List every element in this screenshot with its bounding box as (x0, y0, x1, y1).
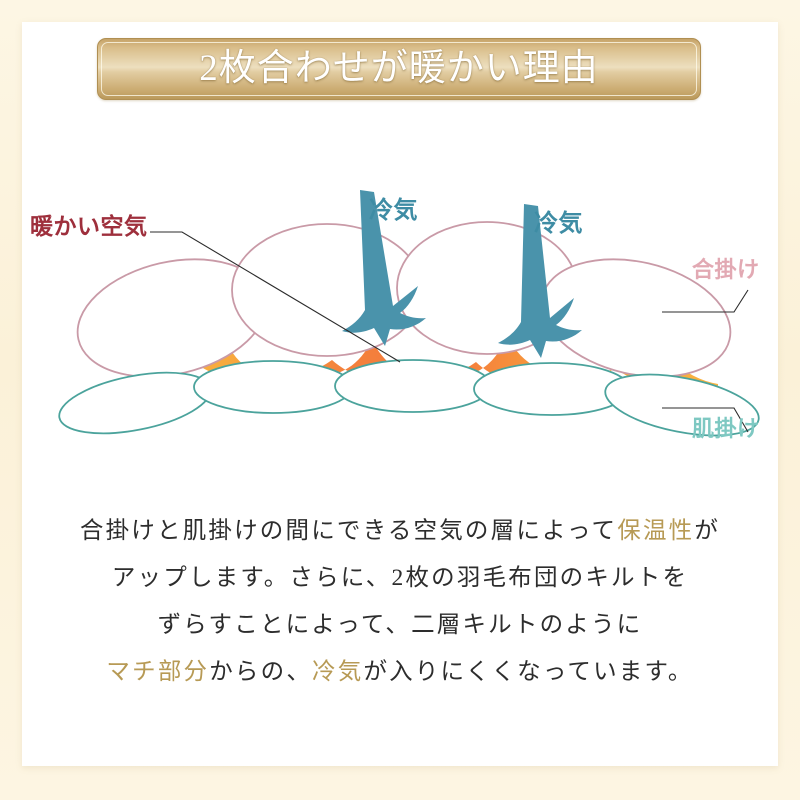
lower-ellipse-2 (194, 361, 352, 413)
description-text: が入りにくくなっています。 (363, 659, 693, 685)
description-highlight: 保温性 (617, 518, 694, 544)
title-banner-inner-border: 2枚合わせが暖かい理由 (101, 42, 697, 96)
label-cold-air-1: 冷気 (369, 199, 418, 223)
upper-ellipse-2 (232, 224, 422, 356)
label-upper-quilt: 合掛け (692, 259, 760, 281)
description-text: が (694, 518, 720, 544)
title-banner: 2枚合わせが暖かい理由 (97, 38, 701, 100)
description-text: 合掛けと肌掛けの間にできる空気の層によって (80, 518, 617, 544)
description-text: ずらすことによって、二層キルトのように (158, 612, 643, 638)
page-background: 2枚合わせが暖かい理由 (0, 0, 800, 800)
description-line: マチ部分からの、冷気が入りにくくなっています。 (22, 649, 778, 696)
description-line: ずらすことによって、二層キルトのように (22, 602, 778, 649)
label-warm-air: 暖かい空気 (30, 215, 148, 238)
description-text: アップします。さらに、2枚の羽毛布団のキルトを (112, 565, 688, 591)
lower-ellipse-3 (335, 360, 491, 412)
description-text: からの、 (209, 659, 312, 685)
page-title: 2枚合わせが暖かい理由 (199, 50, 599, 89)
description-paragraph: 合掛けと肌掛けの間にできる空気の層によって保温性が アップします。さらに、2枚の… (22, 508, 778, 696)
description-highlight: マチ部分 (106, 659, 209, 685)
description-highlight: 冷気 (312, 659, 363, 685)
label-cold-air-2: 冷気 (534, 212, 583, 236)
description-line: 合掛けと肌掛けの間にできる空気の層によって保温性が (22, 508, 778, 555)
description-line: アップします。さらに、2枚の羽毛布団のキルトを (22, 555, 778, 602)
label-lower-quilt: 肌掛け (692, 418, 760, 440)
